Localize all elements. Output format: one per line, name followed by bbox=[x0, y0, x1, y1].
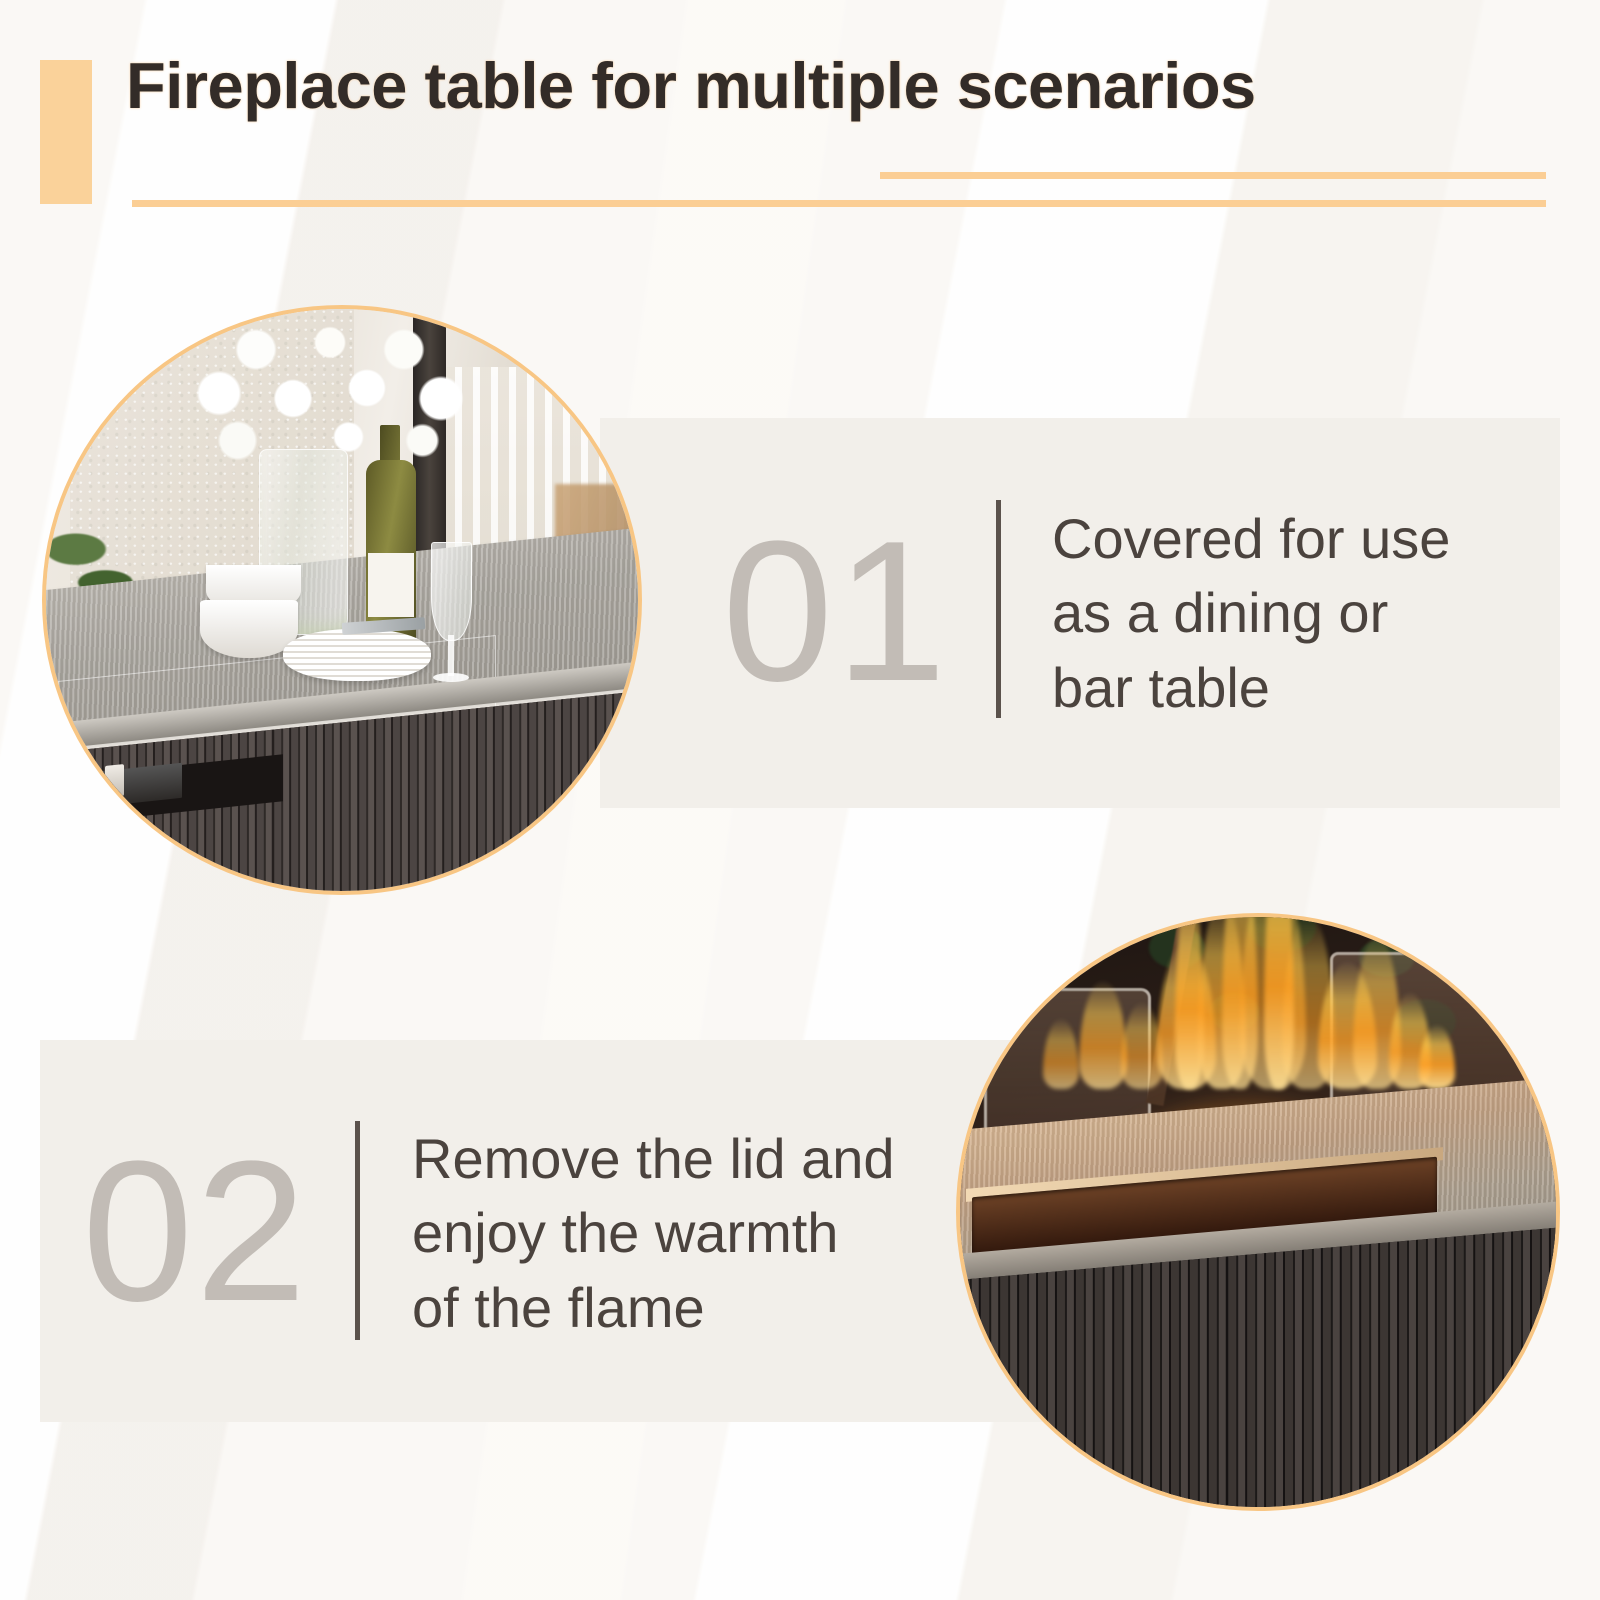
ignition-knob bbox=[105, 764, 124, 798]
wine-glass-bowl bbox=[431, 542, 472, 641]
feature-divider-01 bbox=[996, 500, 1001, 718]
feature-text-01-line-2: as a dining or bbox=[1052, 576, 1552, 650]
flame-tongue bbox=[1264, 917, 1294, 1089]
flame-tongue bbox=[1079, 981, 1127, 1089]
flame-tongue bbox=[1222, 917, 1258, 1089]
feature-text-02-line-2: enjoy the warmth bbox=[412, 1196, 952, 1270]
feature-text-01-line-3: bar table bbox=[1052, 651, 1552, 725]
flame-scene-photo bbox=[960, 917, 1556, 1507]
feature-text-02-line-1: Remove the lid and bbox=[412, 1122, 952, 1196]
stacked-plates bbox=[283, 629, 431, 681]
feature-text-01-line-1: Covered for use bbox=[1052, 502, 1552, 576]
feature-text-02: Remove the lid and enjoy the warmth of t… bbox=[412, 1122, 952, 1345]
wine-glass-stem bbox=[448, 635, 454, 676]
wine-bottle-label bbox=[368, 553, 414, 617]
product-feature-infographic: Fireplace table for multiple scenarios bbox=[0, 0, 1600, 1600]
feature-text-02-line-3: of the flame bbox=[412, 1271, 952, 1345]
wine-glass-foot bbox=[433, 673, 469, 682]
feature-number-02: 02 bbox=[82, 1132, 308, 1332]
flame-tongue bbox=[1043, 1019, 1079, 1089]
title-accent-bar bbox=[40, 60, 92, 204]
title-rule-upper bbox=[880, 172, 1546, 179]
feature-divider-02 bbox=[355, 1121, 360, 1340]
flame-tongue bbox=[1175, 917, 1205, 1089]
dining-scene-photo bbox=[46, 309, 638, 891]
feature-text-01: Covered for use as a dining or bar table bbox=[1052, 502, 1552, 725]
white-flowers bbox=[176, 309, 484, 472]
feature-image-01 bbox=[42, 305, 642, 895]
page-title: Fireplace table for multiple scenarios bbox=[126, 48, 1566, 123]
feature-image-02 bbox=[956, 913, 1560, 1511]
title-rule-lower bbox=[132, 200, 1546, 207]
feature-number-01: 01 bbox=[722, 512, 948, 712]
